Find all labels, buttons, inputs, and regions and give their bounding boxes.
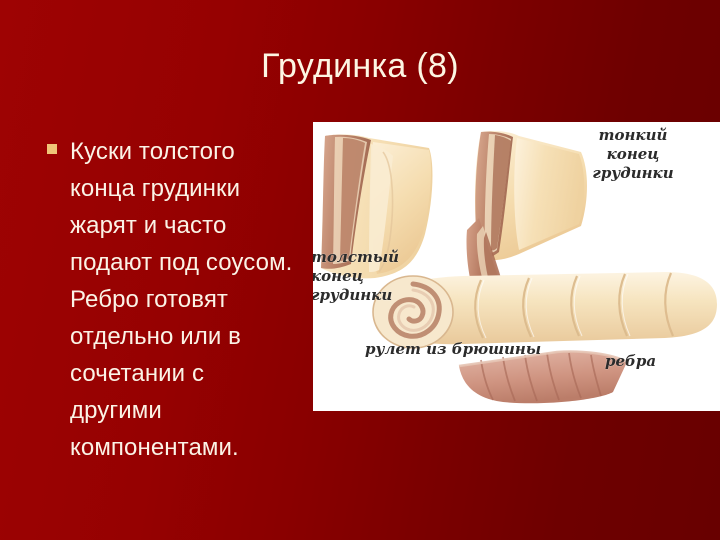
label-thin-end: тонкий конец грудинки — [573, 126, 693, 183]
slide-canvas: Грудинка (8) Куски толстого конца грудин… — [0, 0, 720, 540]
page-title: Грудинка (8) — [0, 46, 720, 86]
square-bullet-icon — [47, 144, 57, 154]
label-thick-end-line3: грудинки — [313, 286, 431, 305]
list-item: Куски толстого конца грудинки жарят и ча… — [44, 133, 302, 466]
brisket-cuts-illustration: тонкий конец грудинки толстый конец груд… — [313, 122, 720, 411]
label-thin-end-line2: конец — [573, 145, 693, 164]
label-thick-end-line1: толстый — [313, 248, 431, 267]
bullet-item-label: Куски толстого конца грудинки жарят и ча… — [70, 138, 292, 461]
label-thick-end-line2: конец — [313, 267, 431, 286]
label-belly-roll: рулет из брюшины — [365, 340, 541, 359]
label-thick-end: толстый конец грудинки — [313, 248, 431, 305]
label-thin-end-line1: тонкий — [573, 126, 693, 145]
content-body: Куски толстого конца грудинки жарят и ча… — [44, 133, 302, 466]
label-ribs: ребра — [605, 352, 656, 371]
label-thin-end-line3: грудинки — [573, 164, 693, 183]
